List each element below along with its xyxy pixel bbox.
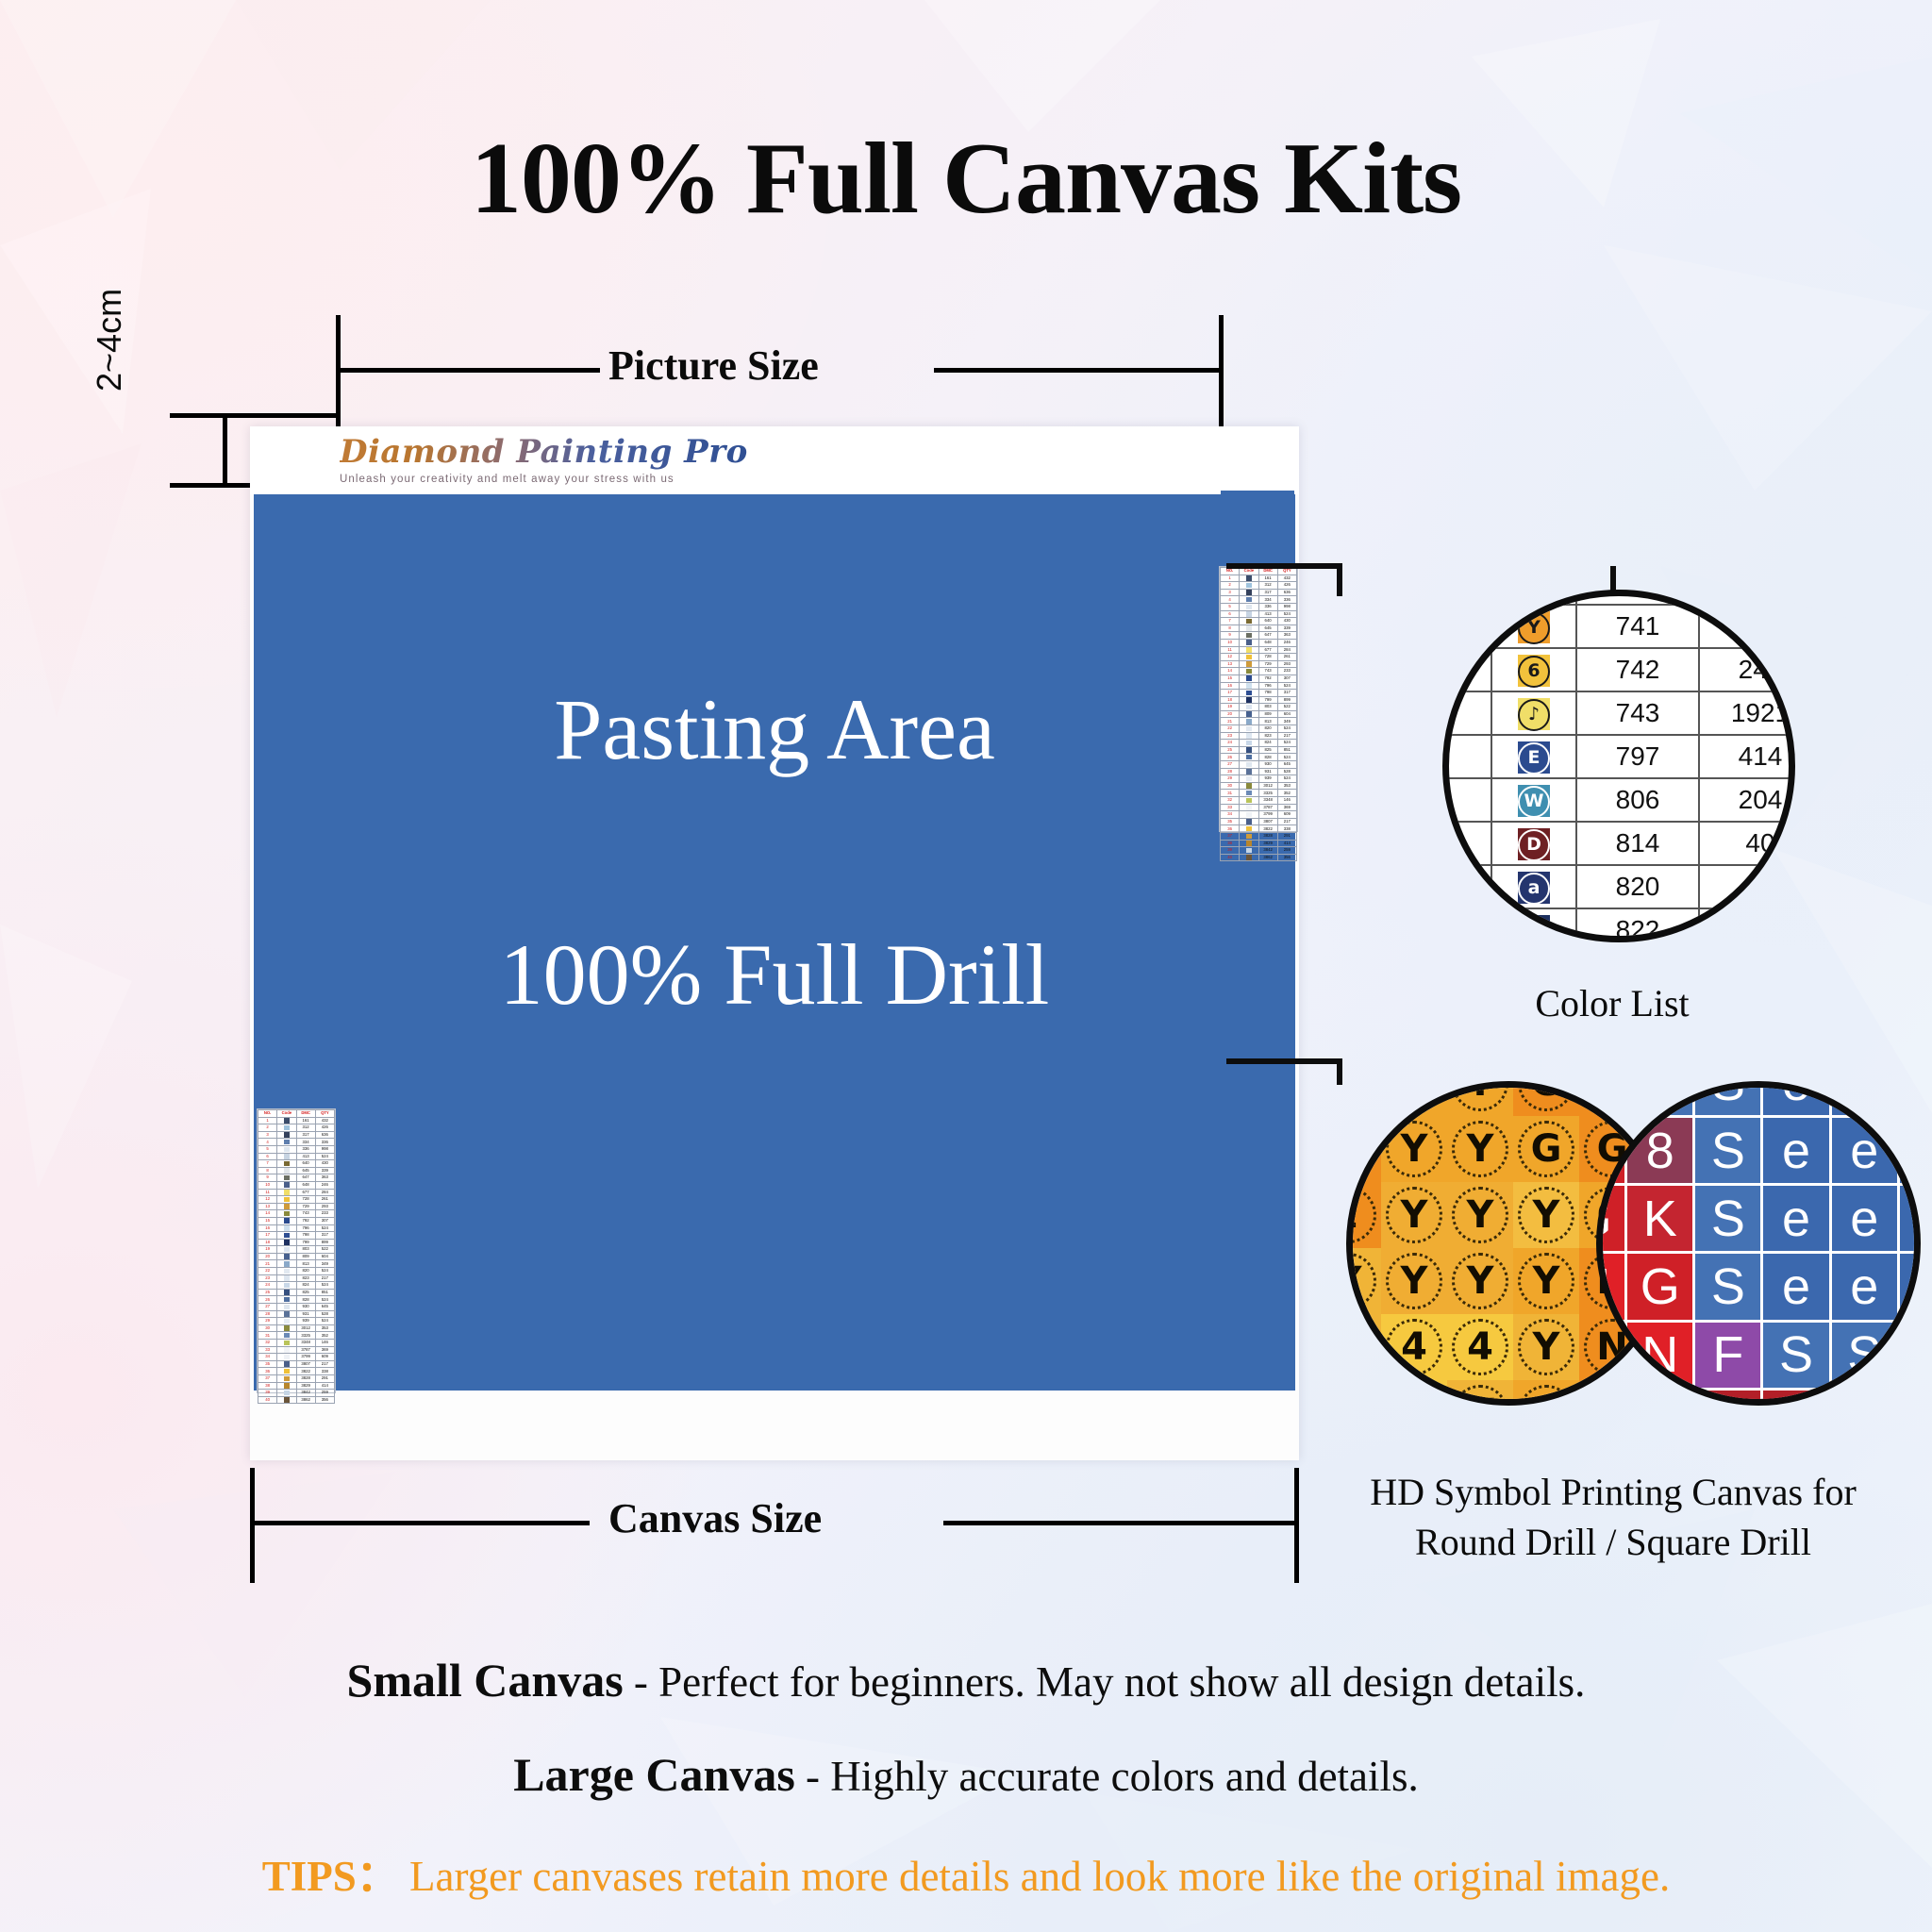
cell-dmc: 645 [296,1167,315,1174]
cell-dmc: 820 [296,1268,315,1275]
drill-cell: 8 [1627,1118,1692,1183]
cell-qty: 307 [1277,675,1296,682]
large-canvas-detail: - Highly accurate colors and details. [795,1753,1419,1800]
table-row: 22820524 [258,1268,335,1275]
cell-qty: 217 [315,1360,334,1368]
cell-dmc: 3012 [1258,782,1277,790]
cell-code [277,1224,296,1232]
cell-no: 17. [1442,778,1444,822]
table-row: 14743233 [258,1210,335,1218]
cell-qty: 604 [1277,710,1296,718]
large-canvas-note: Large Canvas - Highly accurate colors an… [0,1747,1932,1802]
round-drill-symbol: Y [1346,1253,1376,1310]
cell-dmc: 161 [296,1117,315,1124]
round-drill-symbol: t [1346,1187,1376,1244]
cell-no: 34 [1221,811,1240,819]
color-chip [284,1147,290,1153]
cell-no: 39 [258,1390,277,1397]
color-chip [1246,575,1252,581]
drill-cell: Y [1513,1314,1579,1380]
color-chip [284,1347,290,1353]
cell-code [1240,625,1258,632]
cell-dmc: 3822 [1258,825,1277,833]
table-row: 10648246 [1221,639,1297,646]
cell-dmc: 161 [1258,575,1277,582]
round-drill-symbol: 4 [1346,1385,1376,1406]
cell-qty: 284 [315,1189,334,1196]
drill-cell: Y [1513,1182,1579,1248]
cell-no: 7 [258,1160,277,1168]
round-drill-symbol: G [1518,1081,1575,1111]
cell-dmc: 645 [1258,625,1277,632]
cell-code [1240,690,1258,697]
cell-no: 29 [258,1318,277,1325]
cell-qty: 233 [315,1210,334,1218]
cell-dmc: 648 [1258,639,1277,646]
symbol-glyph: a [1518,873,1550,905]
cell-no: 38 [258,1382,277,1390]
color-chip [284,1247,290,1253]
cell-dmc: 3862 [1258,854,1277,861]
cell-code [277,1332,296,1340]
cell-dmc: 3799 [1258,811,1277,819]
cell-qty: 233 [1277,668,1296,675]
table-row: 303012353 [1221,782,1297,790]
cell-qty: 246 [1277,639,1296,646]
cell-qty: 609 [315,1354,334,1361]
color-chip [1246,640,1252,645]
cell-code [1240,847,1258,855]
cell-code [1240,768,1258,775]
cell-qty: 528 [1277,768,1296,775]
table-row: 21813349 [258,1260,335,1268]
color-chip [284,1190,290,1195]
cell-qty: 307 [315,1217,334,1224]
cell-code [1240,646,1258,654]
cell-code [1240,718,1258,725]
table-row: 20809604 [1221,710,1297,718]
cell-no [1442,590,1444,605]
color-chip [1246,647,1252,653]
drill-cell: Y [1381,1081,1447,1116]
cell-dmc: 3862 [296,1396,315,1404]
cell-qty: 524 [315,1224,334,1232]
cell-spacer [1444,605,1491,648]
cell-dmc: 729 [1258,660,1277,668]
small-canvas-note: Small Canvas - Perfect for beginners. Ma… [0,1653,1932,1707]
cell-no: 2 [258,1124,277,1132]
hd-caption-line2: Round Drill / Square Drill [1321,1518,1906,1568]
cell-no: 1 [258,1117,277,1124]
cell-code [1240,710,1258,718]
magnified-color-list-body: ★735.Y741114.674224815.♪743192116.E79741… [1442,590,1795,942]
cell-qty: 522 [315,1246,334,1254]
drill-cell: e [1763,1254,1828,1319]
color-list-strip-table: NO. Code DMC QTY 11614322312426331763643… [1220,567,1297,861]
margin-size-label: 2~4cm [90,289,129,391]
table-row: 16796524 [258,1224,335,1232]
cell-no: 37 [258,1374,277,1382]
cell-qty: 204 [1699,778,1795,822]
cell-dmc: 803 [1258,704,1277,711]
pasting-area: Pasting Area 100% Full Drill [254,494,1295,1391]
cell-no: 15 [258,1217,277,1224]
cell-qty: 899 [315,1239,334,1246]
table-row: 9647363 [1221,632,1297,640]
cell-qty: 604 [315,1253,334,1260]
table-row: 383829414 [1221,840,1297,847]
drill-cell: K [1832,1391,1897,1406]
color-chip [284,1204,290,1209]
drill-cell: t [1346,1182,1381,1248]
col-code: Code [1240,568,1258,575]
margin-tick-left [223,413,227,487]
cell-code [1240,589,1258,596]
cell-qty: 248 [1699,648,1795,691]
cell-code: D [1491,822,1576,865]
table-row: ★735 [1442,590,1795,605]
cell-code [1240,782,1258,790]
cell-no: 5 [1221,603,1240,610]
cell-dmc: 413 [296,1153,315,1160]
cell-code: ★ [1491,590,1576,605]
cell-no: 18. [1442,822,1444,865]
color-chip [284,1168,290,1174]
drill-cell: F [1695,1323,1760,1388]
blue-tab-left [264,1024,321,1080]
table-row: 323348146 [1221,797,1297,805]
cell-dmc: 336 [1258,603,1277,610]
cell-dmc: 3787 [296,1346,315,1354]
table-row: 343799609 [258,1354,335,1361]
cell-dmc: 647 [296,1174,315,1182]
round-drill-symbol: Y [1452,1121,1509,1178]
cell-code [277,1289,296,1296]
cell-qty: 217 [315,1274,334,1282]
color-chip [284,1161,290,1167]
color-chip [1246,733,1252,739]
square-drill-grid: GSSeeeG8SeeeGKSeeeNGSeeeNNFSSSNNKKKK [1596,1081,1921,1406]
symbol-glyph: ♪ [1518,699,1550,731]
table-row: 9647363 [258,1174,335,1182]
table-row: 4334336 [1221,596,1297,604]
cell-qty: 414 [1277,840,1296,847]
cell-code [277,1390,296,1397]
table-row: 26828524 [258,1296,335,1304]
cell-no: 21 [1221,718,1240,725]
cell-no: 32 [1221,797,1240,805]
color-chip [284,1383,290,1389]
color-chip [284,1311,290,1317]
cell-dmc: 735 [1576,590,1699,605]
cell-dmc: 796 [1258,682,1277,690]
cell-qty: 217 [1277,818,1296,825]
col-qty: QTY [1277,568,1296,575]
table-row: 13729293 [258,1203,335,1210]
symbol-chip: B [1518,915,1550,942]
color-chip [1246,855,1252,860]
cell-qty: 522 [1277,704,1296,711]
cell-code [277,1274,296,1282]
drill-cell: 4 [1346,1380,1381,1406]
cell-qty: 609 [1277,811,1296,819]
symbol-chip: W [1518,785,1550,817]
cell-code [277,1253,296,1260]
drill-cell: 4 [1381,1314,1447,1380]
cell-no: 12 [1221,654,1240,661]
cell-dmc: 3807 [1258,818,1277,825]
cell-no: 4 [258,1139,277,1146]
cell-code [277,1282,296,1290]
cell-dmc: 728 [1258,654,1277,661]
symbol-glyph: E [1518,742,1550,774]
drill-cell: t [1346,1116,1381,1182]
cell-qty: 352 [1277,790,1296,797]
table-row: 15.♪7431921 [1442,691,1795,735]
large-canvas-lead: Large Canvas [513,1748,795,1801]
cell-qty: 339 [315,1167,334,1174]
cell-no: 37 [1221,832,1240,840]
cell-code [1240,696,1258,704]
table-row: 29939524 [258,1318,335,1325]
color-chip [284,1140,290,1145]
cell-code [277,1181,296,1189]
table-row: 343799609 [1221,811,1297,819]
cell-code [1240,811,1258,819]
cell-code [277,1324,296,1332]
cell-code [1240,618,1258,625]
cell-code [1240,740,1258,747]
color-chip [1246,776,1252,782]
table-row: 29939524 [1221,775,1297,783]
cell-code [1240,668,1258,675]
cell-no: 14 [1221,668,1240,675]
cell-dmc: 741 [1576,605,1699,648]
cell-code [1240,825,1258,833]
cell-code [277,1304,296,1311]
cell-code [277,1368,296,1375]
drill-cell: K [1900,1391,1921,1406]
table-header-row: NO. Code DMC QTY [1221,568,1297,575]
cell-qty: 356 [1277,854,1296,861]
cell-spacer [1444,822,1491,865]
cell-no: 9 [1221,632,1240,640]
cell-no: 31 [1221,790,1240,797]
table-row: 12728261 [1221,654,1297,661]
drill-cell: S [1695,1186,1760,1251]
cell-dmc: 3325 [296,1332,315,1340]
color-chip [284,1132,290,1138]
cell-no: 35 [1221,818,1240,825]
color-chip [284,1275,290,1281]
cell-qty: 524 [315,1318,334,1325]
table-row: 353807217 [258,1360,335,1368]
drill-cell: e [1832,1254,1897,1319]
cell-code [1240,818,1258,825]
cell-code [277,1145,296,1153]
table-row: 373828291 [258,1374,335,1382]
color-chip [1246,590,1252,595]
cell-code [1240,675,1258,682]
drill-cell: S [1695,1081,1760,1115]
table-row: 373828291 [1221,832,1297,840]
cell-dmc: 799 [296,1239,315,1246]
drill-cell: e [1763,1186,1828,1251]
cell-code [277,1360,296,1368]
cell-qty: 524 [1277,682,1296,690]
cell-code [277,1260,296,1268]
cell-code [277,1153,296,1160]
color-chip [1246,619,1252,625]
cell-qty: 261 [315,1196,334,1204]
cell-qty [1699,865,1795,908]
cell-qty: 339 [1277,625,1296,632]
drill-cell: Y [1447,1182,1513,1248]
cell-qty: 524 [315,1282,334,1290]
cell-no: 38 [1221,840,1240,847]
color-chip [1246,655,1252,660]
cell-qty: 998 [1277,603,1296,610]
cell-code [277,1396,296,1404]
color-chip [1246,747,1252,753]
cell-dmc: 814 [1576,822,1699,865]
table-row: 24824524 [1221,740,1297,747]
drill-cell: Y [1346,1248,1381,1314]
cell-dmc: 930 [296,1304,315,1311]
color-chip [1246,741,1252,746]
cell-no: 11 [1221,646,1240,654]
canvas-size-tick-right [1294,1468,1299,1583]
table-row: 23823217 [258,1274,335,1282]
color-chip [284,1197,290,1203]
cell-no: 22 [258,1268,277,1275]
cell-no [1442,865,1444,908]
cell-dmc: 792 [296,1217,315,1224]
cell-dmc: 3325 [1258,790,1277,797]
table-row: 25825851 [258,1289,335,1296]
table-row: 383829414 [258,1382,335,1390]
color-chip [284,1175,290,1181]
cell-qty: 259 [1277,847,1296,855]
cell-dmc: 806 [1576,778,1699,822]
cell-code [277,1117,296,1124]
cell-code [277,1167,296,1174]
cell-code [1240,603,1258,610]
cell-no: 29 [1221,775,1240,783]
cell-dmc: 939 [1258,775,1277,783]
cell-no: 25 [1221,746,1240,754]
cell-dmc: 822 [1576,908,1699,942]
cell-no: 19 [258,1246,277,1254]
cell-no: 17 [258,1232,277,1240]
cell-no: 2 [1221,582,1240,590]
cell-qty: 430 [315,1160,334,1168]
cell-dmc: 930 [1258,761,1277,769]
cell-code [277,1189,296,1196]
color-chip [1246,675,1252,681]
strip-right-body: 1161432231242633176364334336533699864135… [1221,575,1297,861]
cell-code: B [1491,908,1576,942]
cell-dmc: 3828 [1258,832,1277,840]
picture-size-line-right [934,368,1222,373]
drill-cell: e [1900,1186,1921,1251]
cell-dmc: 3012 [296,1324,315,1332]
cell-dmc: 3822 [296,1368,315,1375]
cell-no: 22 [1221,725,1240,733]
table-row: 25825851 [1221,746,1297,754]
drill-cell: e [1900,1118,1921,1183]
cell-no: 30 [1221,782,1240,790]
drill-cell: G [1627,1254,1692,1319]
cell-code: 6 [1491,648,1576,691]
color-chip [1246,848,1252,854]
cell-code [277,1210,296,1218]
cell-no: 35 [258,1360,277,1368]
cell-dmc: 823 [296,1274,315,1282]
table-row: 1161432 [1221,575,1297,582]
color-chip [284,1333,290,1339]
symbol-glyph: D [1518,829,1550,861]
cell-no: 15. [1442,691,1444,735]
color-chip [1246,755,1252,760]
table-row: 353807217 [1221,818,1297,825]
cell-code: W [1491,778,1576,822]
symbol-chip: ★ [1518,590,1550,600]
cell-code [1240,804,1258,811]
cell-no: 11 [258,1189,277,1196]
cell-dmc: 413 [1258,610,1277,618]
color-chip [284,1369,290,1374]
table-row: 8645339 [258,1167,335,1174]
cell-qty: 636 [315,1131,334,1139]
cell-qty [1699,908,1795,942]
cell-qty: 851 [315,1289,334,1296]
cell-no: . [1442,605,1444,648]
table-row: 333787369 [258,1346,335,1354]
cell-no: 36 [258,1368,277,1375]
cell-code [277,1124,296,1132]
cell-code [1240,775,1258,783]
cell-dmc: 820 [1576,865,1699,908]
table-row: 11677284 [1221,646,1297,654]
cell-qty: 217 [1277,732,1296,740]
table-row: 27930645 [258,1304,335,1311]
cell-dmc: 797 [1576,735,1699,778]
drill-cell: G [1513,1081,1579,1116]
cell-code [1240,725,1258,733]
color-list-strip-table: NO. Code DMC QTY 11614322312426331763643… [258,1109,335,1404]
drill-cell: e [1900,1081,1921,1115]
square-drill-magnifier: GSSeeeG8SeeeGKSeeeNGSeeeNNFSSSNNKKKK [1596,1081,1921,1406]
cell-dmc: 647 [1258,632,1277,640]
color-chip [1246,697,1252,703]
cell-no: 8 [258,1167,277,1174]
canvas-header-band: Diamond Painting Pro Unleash your creati… [250,426,1299,494]
cell-qty: 524 [1277,775,1296,783]
cell-dmc: 825 [296,1289,315,1296]
table-row: B822 [1442,908,1795,942]
cell-qty: 317 [315,1232,334,1240]
table-row: 16796524 [1221,682,1297,690]
cell-no: 21 [258,1260,277,1268]
table-row: 14743233 [1221,668,1297,675]
col-dmc: DMC [1258,568,1277,575]
cell-no: 32 [258,1340,277,1347]
color-chip [284,1341,290,1346]
round-drill-symbol: Y [1518,1187,1575,1244]
cell-dmc: 334 [296,1139,315,1146]
cell-dmc: 640 [1258,618,1277,625]
